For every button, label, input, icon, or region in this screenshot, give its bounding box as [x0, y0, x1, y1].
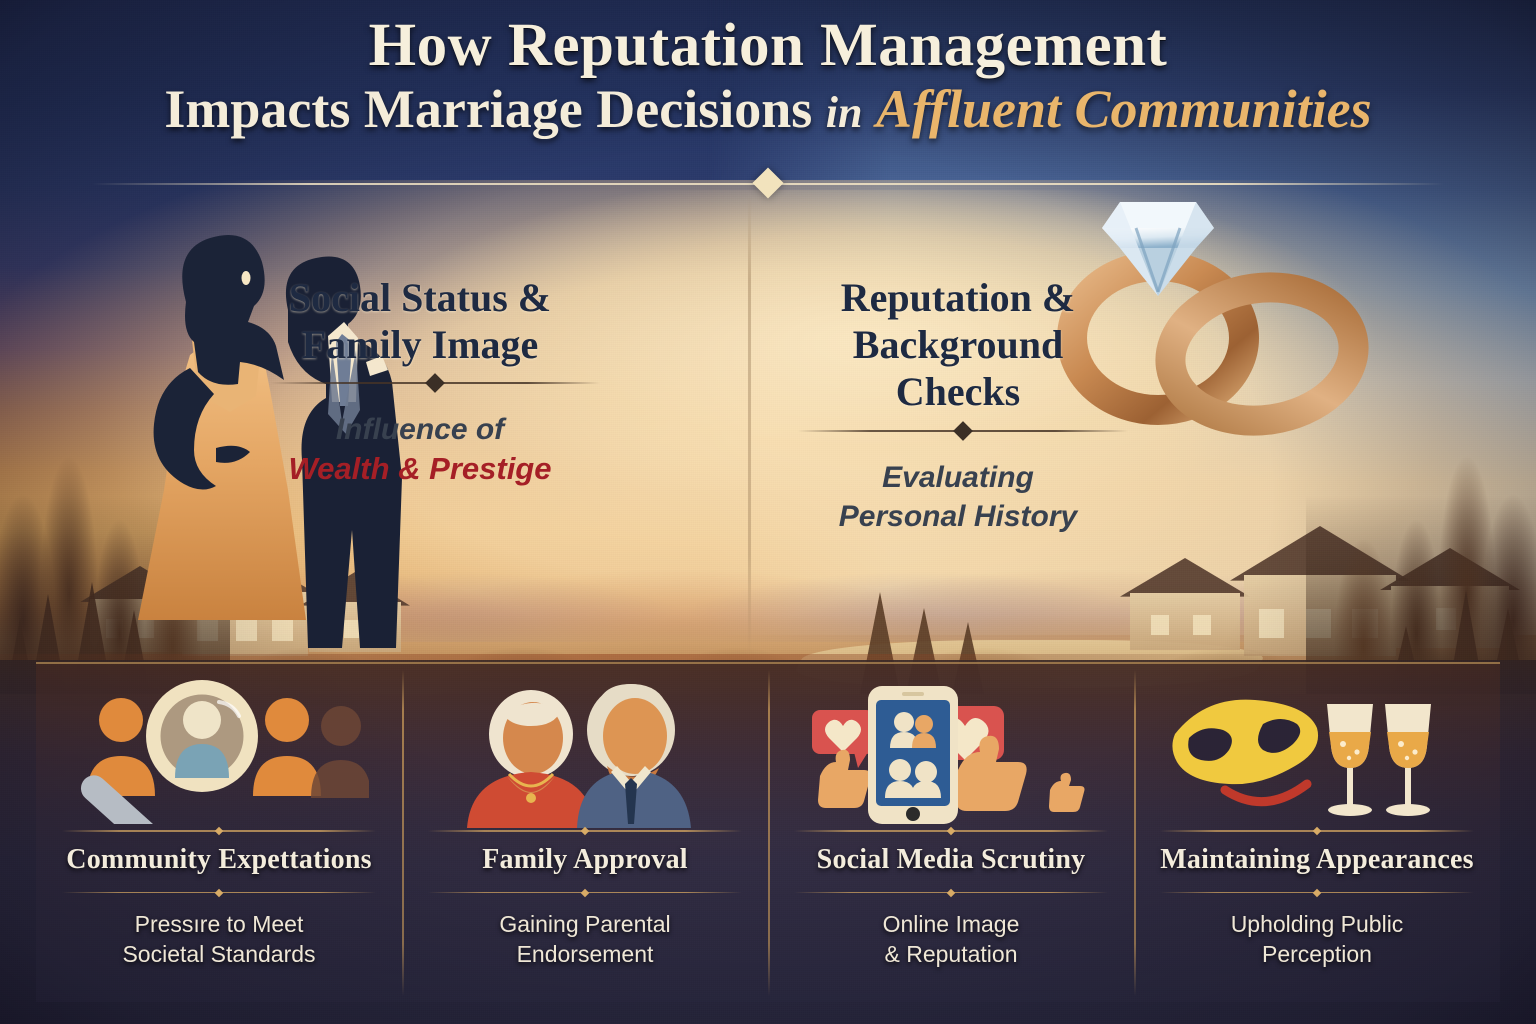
- panel-heading-line-2: Family Image: [270, 321, 570, 368]
- panel-heading: Social Status & Family Image: [270, 274, 570, 368]
- card-community-expectations[interactable]: Community Expettations Pressıre to Meet …: [36, 664, 402, 1002]
- card-subtitle-line-1: Gaining Parental: [499, 909, 670, 939]
- card-divider-bottom: [794, 892, 1109, 894]
- card-subtitle: Gaining Parental Endorsement: [499, 909, 670, 970]
- panel-subtitle: Influence of Wealth & Prestige: [270, 410, 570, 489]
- card-title: Social Media Scrutiny: [817, 844, 1086, 876]
- card-title: Community Expettations: [66, 844, 371, 876]
- card-title: Maintaining Appearances: [1160, 844, 1473, 876]
- panel-reputation-checks: Reputation & Background Checks Evaluatin…: [768, 196, 1536, 666]
- card-subtitle-line-2: & Reputation: [883, 939, 1020, 969]
- card-subtitle-line-2: Perception: [1231, 939, 1404, 969]
- card-subtitle-line-1: Pressıre to Meet: [122, 909, 315, 939]
- panel-subtitle: Evaluating Personal History: [798, 458, 1118, 536]
- card-subtitle-line-2: Societal Standards: [122, 939, 315, 969]
- title-line-1: How Reputation Management: [0, 14, 1536, 77]
- elderly-couple-icon: [402, 676, 768, 824]
- card-divider-bottom: [428, 892, 743, 894]
- mask-and-champagne-icon: [1134, 676, 1500, 824]
- bottom-cards-row: Community Expettations Pressıre to Meet …: [36, 662, 1500, 1002]
- card-subtitle-line-1: Online Image: [883, 909, 1020, 939]
- panel-heading-line-1: Reputation &: [798, 274, 1118, 321]
- panel-social-status: Social Status & Family Image Influence o…: [0, 196, 768, 666]
- infographic-canvas: How Reputation Management Impacts Marria…: [0, 0, 1536, 1024]
- magnifier-over-people-icon: [36, 676, 402, 824]
- card-divider-top: [1160, 830, 1475, 832]
- title-line-2: Impacts Marriage Decisions in Affluent C…: [0, 79, 1536, 139]
- card-family-approval[interactable]: Family Approval Gaining Parental Endorse…: [402, 664, 768, 1002]
- panel-subtitle-line-2: Wealth & Prestige: [270, 449, 570, 489]
- card-divider-bottom: [1160, 892, 1475, 894]
- card-divider-top: [794, 830, 1109, 832]
- panel-subtitle-line-1: Influence of: [336, 413, 504, 446]
- panel-crease-divider: [748, 196, 751, 656]
- upper-panels: Social Status & Family Image Influence o…: [0, 196, 1536, 666]
- card-maintaining-appearances[interactable]: Maintaining Appearances Upholding Public…: [1134, 664, 1500, 1002]
- card-divider-top: [428, 830, 743, 832]
- card-subtitle: Pressıre to Meet Societal Standards: [122, 909, 315, 970]
- card-divider-top: [62, 830, 377, 832]
- title-block: How Reputation Management Impacts Marria…: [0, 14, 1536, 140]
- title-line-2-in: in: [826, 88, 863, 137]
- card-subtitle: Upholding Public Perception: [1231, 909, 1404, 970]
- title-line-2-main: Impacts Marriage Decisions: [164, 79, 812, 139]
- card-title: Family Approval: [482, 844, 688, 876]
- card-social-media-scrutiny[interactable]: Social Media Scrutiny Online Image & Rep…: [768, 664, 1134, 1002]
- card-subtitle-line-2: Endorsement: [499, 939, 670, 969]
- panel-divider: [798, 430, 1128, 432]
- panel-heading: Reputation & Background Checks: [798, 274, 1118, 416]
- panel-subtitle-line-2: Personal History: [798, 497, 1118, 536]
- title-line-2-accent: Affluent Communities: [876, 79, 1372, 139]
- card-subtitle: Online Image & Reputation: [883, 909, 1020, 970]
- smartphone-social-likes-icon: [768, 676, 1134, 824]
- panel-heading-line-2: Background Checks: [798, 321, 1118, 415]
- card-divider-bottom: [62, 892, 377, 894]
- card-subtitle-line-1: Upholding Public: [1231, 909, 1404, 939]
- panel-divider: [270, 382, 600, 384]
- panel-heading-line-1: Social Status &: [270, 274, 570, 321]
- panel-subtitle-line-1: Evaluating: [882, 461, 1034, 494]
